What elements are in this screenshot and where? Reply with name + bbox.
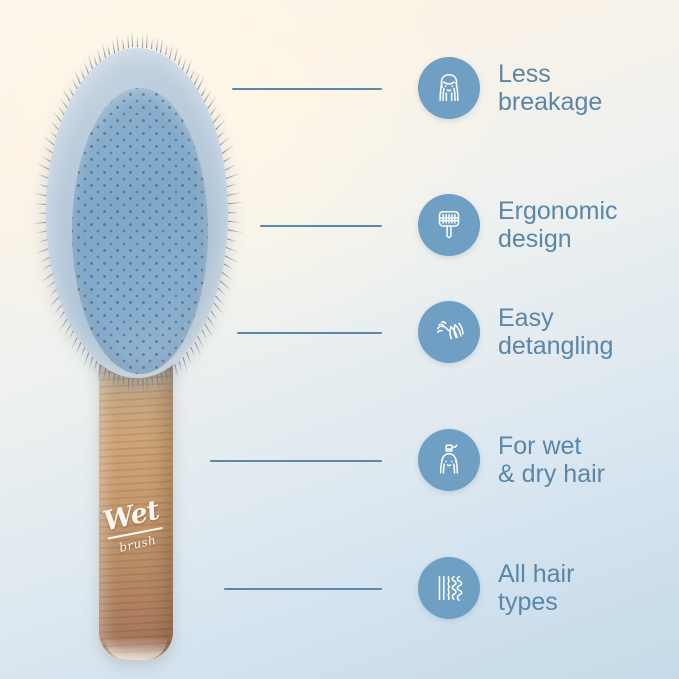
- brush-pad-cushion: [72, 88, 208, 374]
- feature-label: Ergonomic design: [498, 197, 618, 254]
- brush-handle: [99, 330, 173, 660]
- feature-label: Easy detangling: [498, 304, 613, 361]
- feature-item-all-hair-types: All hair types: [232, 548, 679, 628]
- feature-item-less-breakage: Less breakage: [232, 48, 679, 128]
- hand-comb-hair-icon: [418, 301, 480, 363]
- feature-item-for-wet-and-dry-hair: For wet & dry hair: [232, 420, 679, 500]
- feature-label: For wet & dry hair: [498, 432, 605, 489]
- leader-line: [232, 224, 418, 226]
- feature-label: Less breakage: [498, 60, 602, 117]
- bristle-tips: [72, 88, 208, 374]
- brush-pad-outer: [46, 48, 228, 378]
- leader-line: [232, 459, 418, 461]
- leader-line: [232, 87, 418, 89]
- hair-brush-product-image: Wet brush: [42, 30, 232, 650]
- leader-line: [232, 587, 418, 589]
- feature-list: Less breakage Ergonomic design: [232, 0, 679, 679]
- infographic-scene: Wet brush: [0, 0, 679, 679]
- feature-label: All hair types: [498, 560, 574, 617]
- brush-icon: [418, 194, 480, 256]
- leader-line: [232, 331, 418, 333]
- spray-hair-icon: [418, 429, 480, 491]
- woman-hair-icon: [418, 57, 480, 119]
- hair-types-icon: [418, 557, 480, 619]
- feature-item-ergonomic-design: Ergonomic design: [232, 185, 679, 265]
- feature-item-easy-detangling: Easy detangling: [232, 292, 679, 372]
- wood-grain-texture: [99, 330, 173, 660]
